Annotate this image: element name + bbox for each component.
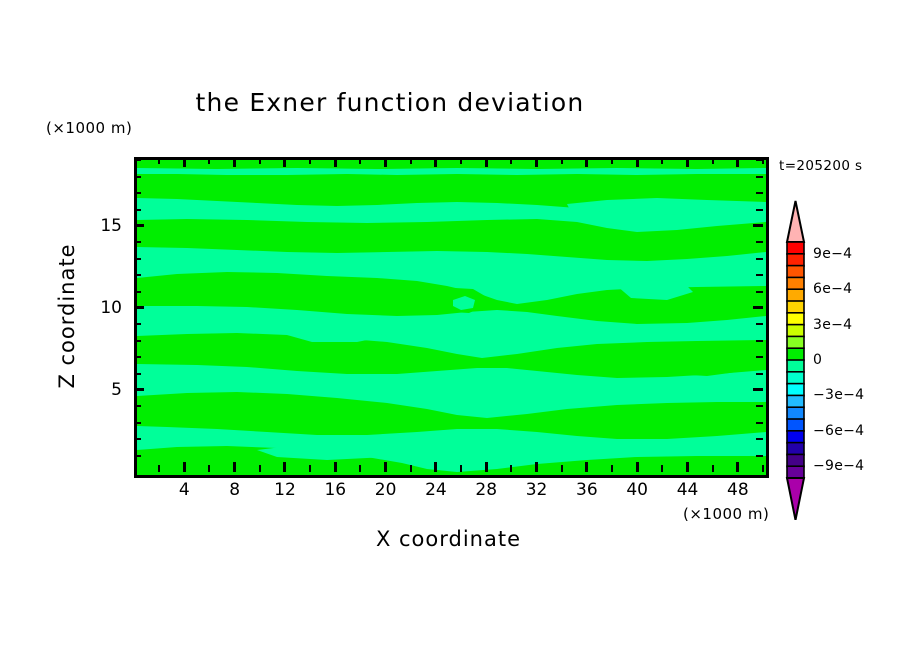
- x-tick-46: [712, 465, 714, 472]
- x-tick-40: [636, 462, 639, 472]
- triangle-up-icon: [787, 201, 804, 242]
- colorbar-label-1: 6e−4: [813, 281, 852, 297]
- y-tick-8: [134, 340, 141, 342]
- x-tick-2: [158, 465, 160, 472]
- x-tick-top-18: [359, 157, 361, 164]
- x-tick-38: [611, 465, 613, 472]
- y-tick-17: [134, 192, 141, 194]
- colorbar-label-0: 9e−4: [813, 246, 852, 262]
- x-tick-top-14: [309, 157, 311, 164]
- y-tick-13: [134, 258, 141, 260]
- x-tick-label-20: 20: [366, 480, 406, 500]
- x-tick-4: [183, 462, 186, 472]
- y-tick-4: [134, 405, 141, 407]
- x-tick-20: [384, 462, 387, 472]
- x-tick-top-22: [410, 157, 412, 164]
- colorbar-label-5: −6e−4: [813, 423, 864, 439]
- colorbar-segment-15: [787, 419, 804, 431]
- x-tick-12: [283, 462, 286, 472]
- x-tick-36: [585, 462, 588, 472]
- y-tick-9: [134, 323, 141, 325]
- x-tick-label-36: 36: [567, 480, 607, 500]
- y-tick-right-16: [756, 209, 763, 211]
- x-axis-title: X coordinate: [134, 527, 763, 551]
- x-tick-top-26: [460, 157, 462, 164]
- x-tick-top-8: [233, 157, 236, 167]
- colorbar-label-6: −9e−4: [813, 458, 864, 474]
- colorbar-segment-3: [787, 277, 804, 289]
- colorbar-segment-11: [787, 372, 804, 384]
- y-tick-18: [134, 176, 141, 178]
- x-tick-32: [535, 462, 538, 472]
- y-tick-right-19: [756, 159, 763, 161]
- x-tick-28: [485, 462, 488, 472]
- y-tick-right-11: [756, 291, 763, 293]
- x-tick-top-12: [283, 157, 286, 167]
- colorbar-segment-5: [787, 301, 804, 313]
- x-tick-14: [309, 465, 311, 472]
- x-axis-units-label: (×1000 m): [683, 505, 769, 523]
- y-axis-title: Z coordinate: [55, 216, 79, 416]
- x-tick-48: [736, 462, 739, 472]
- x-tick-top-44: [686, 157, 689, 167]
- page-title: the Exner function deviation: [0, 88, 780, 117]
- colorbar-segment-9: [787, 348, 804, 360]
- x-tick-top-40: [636, 157, 639, 167]
- y-axis-units-label: (×1000 m): [46, 119, 132, 137]
- x-tick-42: [661, 465, 663, 472]
- y-tick-label-5: 5: [82, 380, 122, 400]
- x-tick-50: [762, 465, 764, 472]
- x-tick-top-6: [208, 157, 210, 164]
- y-tick-right-5: [753, 388, 763, 391]
- y-tick-2: [134, 438, 141, 440]
- x-tick-label-44: 44: [668, 480, 708, 500]
- y-tick-14: [134, 241, 141, 243]
- x-tick-label-32: 32: [517, 480, 557, 500]
- y-tick-16: [134, 209, 141, 211]
- x-tick-top-34: [561, 157, 563, 164]
- x-tick-top-36: [585, 157, 588, 167]
- x-tick-top-24: [434, 157, 437, 167]
- colorbar: [783, 200, 809, 520]
- x-tick-label-28: 28: [466, 480, 506, 500]
- y-tick-12: [134, 274, 141, 276]
- x-tick-18: [359, 465, 361, 472]
- colorbar-label-4: −3e−4: [813, 387, 864, 403]
- y-tick-label-15: 15: [82, 216, 122, 236]
- y-tick-1: [134, 455, 141, 457]
- y-tick-right-9: [756, 323, 763, 325]
- colorbar-scale: [783, 200, 809, 520]
- x-tick-10: [259, 465, 261, 472]
- triangle-down-icon: [787, 478, 804, 520]
- colorbar-segment-8: [787, 336, 804, 348]
- plot-area: [134, 157, 769, 478]
- y-tick-right-17: [756, 192, 763, 194]
- x-tick-34: [561, 465, 563, 472]
- y-tick-11: [134, 291, 141, 293]
- x-tick-label-48: 48: [718, 480, 758, 500]
- y-tick-right-7: [756, 356, 763, 358]
- x-tick-8: [233, 462, 236, 472]
- time-annotation: t=205200 s: [779, 158, 862, 174]
- colorbar-segment-12: [787, 384, 804, 396]
- x-tick-24: [434, 462, 437, 472]
- contour-plot-figure: the Exner function deviation (×1000 m) t…: [0, 0, 904, 654]
- y-tick-15: [134, 224, 144, 227]
- colorbar-label-2: 3e−4: [813, 317, 852, 333]
- x-tick-top-10: [259, 157, 261, 164]
- x-tick-top-20: [384, 157, 387, 167]
- colorbar-label-3: 0: [813, 352, 822, 368]
- colorbar-segment-1: [787, 254, 804, 266]
- colorbar-segment-4: [787, 289, 804, 301]
- y-tick-7: [134, 356, 141, 358]
- y-tick-right-4: [756, 405, 763, 407]
- x-tick-label-12: 12: [265, 480, 305, 500]
- y-tick-10: [134, 306, 144, 309]
- x-tick-top-28: [485, 157, 488, 167]
- y-tick-19: [134, 159, 141, 161]
- y-tick-label-10: 10: [82, 298, 122, 318]
- x-tick-label-4: 4: [164, 480, 204, 500]
- y-tick-right-13: [756, 258, 763, 260]
- y-tick-right-8: [756, 340, 763, 342]
- contour-field: [137, 160, 766, 475]
- x-tick-22: [410, 465, 412, 472]
- x-tick-44: [686, 462, 689, 472]
- y-tick-right-15: [753, 224, 763, 227]
- x-tick-label-8: 8: [215, 480, 255, 500]
- colorbar-segment-16: [787, 431, 804, 443]
- y-tick-right-2: [756, 438, 763, 440]
- y-tick-right-6: [756, 373, 763, 375]
- colorbar-segment-2: [787, 266, 804, 278]
- y-tick-3: [134, 422, 141, 424]
- colorbar-segment-19: [787, 466, 804, 478]
- x-tick-label-40: 40: [617, 480, 657, 500]
- colorbar-segment-18: [787, 454, 804, 466]
- colorbar-segment-13: [787, 395, 804, 407]
- colorbar-segment-17: [787, 443, 804, 455]
- y-tick-right-12: [756, 274, 763, 276]
- x-tick-top-16: [334, 157, 337, 167]
- x-tick-top-2: [158, 157, 160, 164]
- colorbar-segment-14: [787, 407, 804, 419]
- y-tick-right-3: [756, 422, 763, 424]
- x-tick-top-4: [183, 157, 186, 167]
- x-tick-top-30: [510, 157, 512, 164]
- y-tick-6: [134, 373, 141, 375]
- x-tick-16: [334, 462, 337, 472]
- x-tick-30: [510, 465, 512, 472]
- colorbar-segment-6: [787, 313, 804, 325]
- y-tick-right-1: [756, 455, 763, 457]
- x-tick-top-48: [736, 157, 739, 167]
- x-tick-top-42: [661, 157, 663, 164]
- x-tick-top-38: [611, 157, 613, 164]
- x-tick-top-32: [535, 157, 538, 167]
- x-tick-26: [460, 465, 462, 472]
- x-tick-top-46: [712, 157, 714, 164]
- colorbar-segment-0: [787, 242, 804, 254]
- colorbar-segment-7: [787, 325, 804, 337]
- y-tick-5: [134, 388, 144, 391]
- x-tick-label-24: 24: [416, 480, 456, 500]
- x-tick-6: [208, 465, 210, 472]
- y-tick-right-10: [753, 306, 763, 309]
- x-tick-label-16: 16: [315, 480, 355, 500]
- y-tick-right-14: [756, 241, 763, 243]
- y-tick-right-18: [756, 176, 763, 178]
- colorbar-segment-10: [787, 360, 804, 372]
